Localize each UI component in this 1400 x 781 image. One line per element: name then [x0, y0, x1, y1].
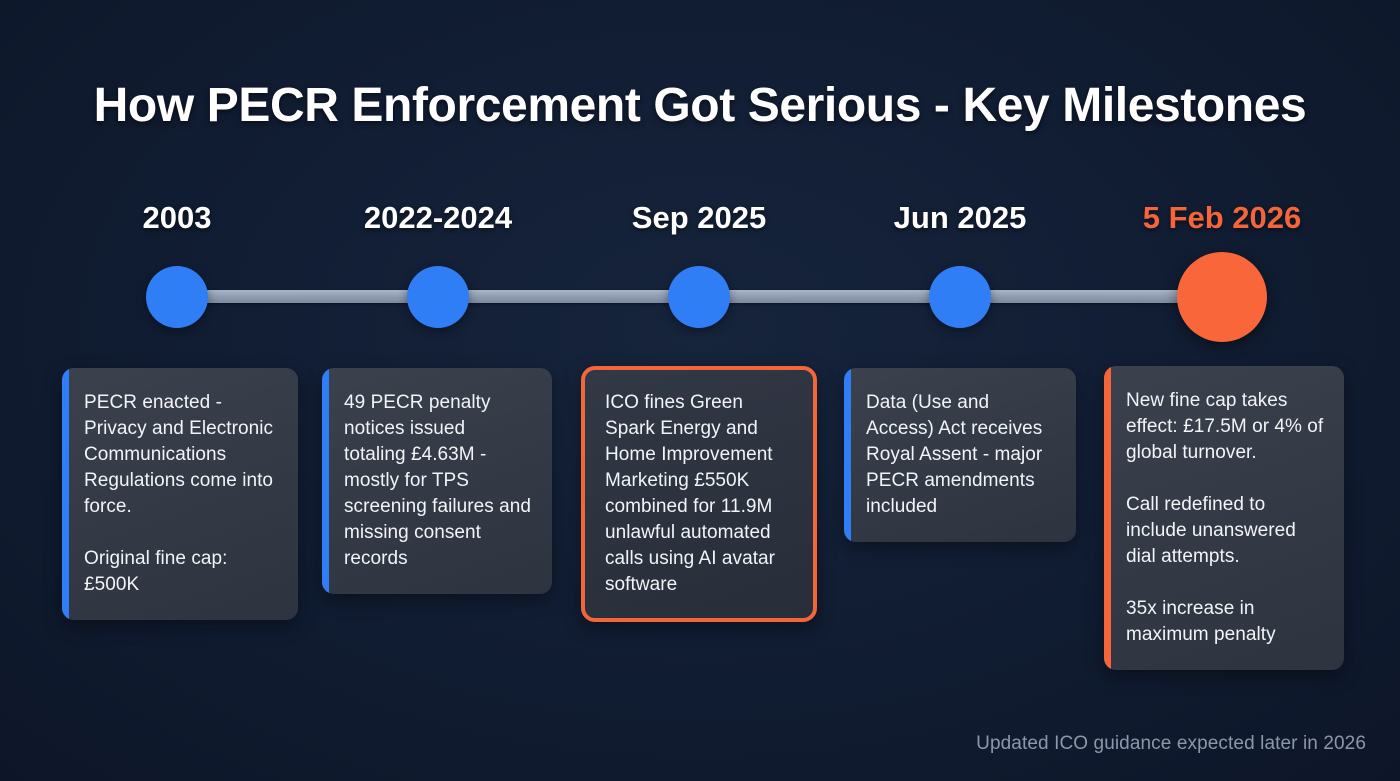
page-title: How PECR Enforcement Got Serious - Key M… [0, 76, 1400, 136]
card-accent-bar [844, 368, 851, 542]
milestone-dot-icon[interactable] [407, 266, 469, 328]
milestone-dot-icon[interactable] [668, 266, 730, 328]
milestone-date-label: 2022-2024 [298, 200, 578, 236]
milestone-dot-icon[interactable] [146, 266, 208, 328]
milestone-card[interactable]: New fine cap takes effect: £17.5M or 4% … [1104, 366, 1344, 670]
card-paragraph: PECR enacted - Privacy and Electronic Co… [84, 390, 278, 520]
milestone-card[interactable]: PECR enacted - Privacy and Electronic Co… [62, 368, 298, 620]
milestone-card[interactable]: 49 PECR penalty notices issued totaling … [322, 368, 552, 594]
card-paragraph: 35x increase in maximum penalty [1126, 596, 1324, 648]
card-paragraph: Data (Use and Access) Act receives Royal… [866, 390, 1056, 520]
card-paragraph: 49 PECR penalty notices issued totaling … [344, 390, 532, 572]
card-accent-bar [322, 368, 329, 594]
card-paragraph: ICO fines Green Spark Energy and Home Im… [605, 390, 795, 598]
card-paragraph: Original fine cap: £500K [84, 546, 278, 598]
milestone-card[interactable]: Data (Use and Access) Act receives Royal… [844, 368, 1076, 542]
milestone-card[interactable]: ICO fines Green Spark Energy and Home Im… [581, 366, 817, 622]
card-accent-bar [62, 368, 69, 620]
milestone-date-label: 5 Feb 2026 [1082, 200, 1362, 236]
milestone-date-label: 2003 [37, 200, 317, 236]
card-paragraph: Call redefined to include unanswered dia… [1126, 492, 1324, 570]
milestone-date-label: Sep 2025 [559, 200, 839, 236]
card-accent-bar [1104, 366, 1111, 670]
footer-note: Updated ICO guidance expected later in 2… [976, 733, 1366, 755]
milestone-dot-icon[interactable] [929, 266, 991, 328]
timeline-infographic: How PECR Enforcement Got Serious - Key M… [0, 0, 1400, 781]
card-paragraph: New fine cap takes effect: £17.5M or 4% … [1126, 388, 1324, 466]
milestone-date-label: Jun 2025 [820, 200, 1100, 236]
milestone-dot-highlight-icon[interactable] [1177, 252, 1267, 342]
